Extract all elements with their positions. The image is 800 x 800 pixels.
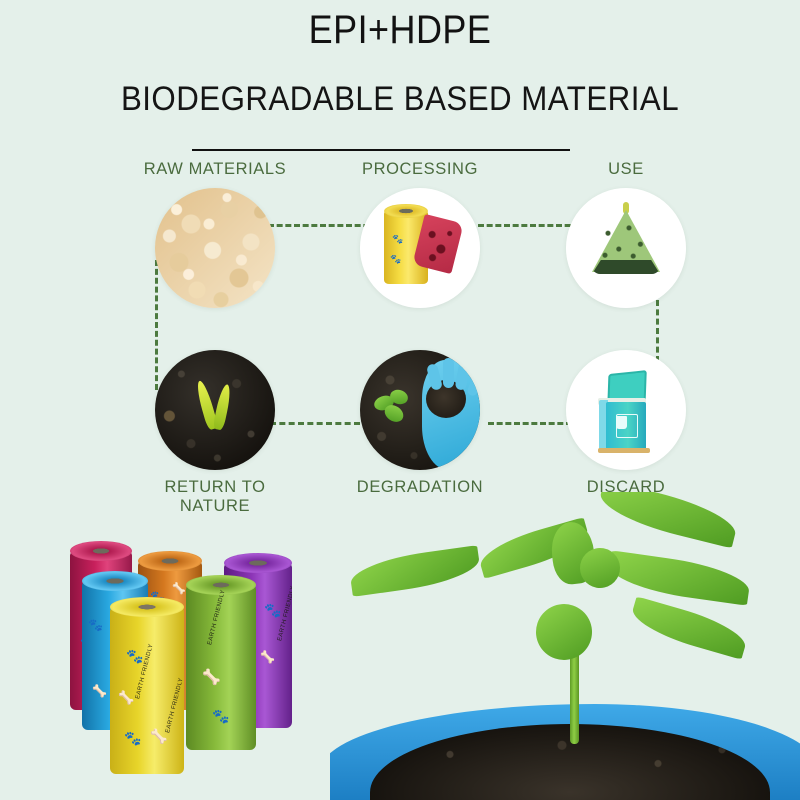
teal-trash-bin-icon (566, 350, 686, 470)
page-subtitle: BIODEGRADABLE BASED MATERIAL (32, 80, 768, 119)
infographic-page: EPI+HDPE BIODEGRADABLE BASED MATERIAL RA… (0, 0, 800, 800)
bag-roll-green: 🦴 🐾 EARTH FRIENDLY (186, 584, 256, 750)
page-title: EPI+HDPE (40, 8, 760, 53)
lifecycle-label-return-to-nature: RETURN TO NATURE (164, 478, 265, 516)
lifecycle-step-use[interactable]: USE (566, 160, 686, 310)
lifecycle-step-raw-materials[interactable]: RAW MATERIALS (155, 160, 275, 310)
lifecycle-step-return-to-nature[interactable]: RETURN TO NATURE (155, 350, 275, 500)
lifecycle-label-use: USE (608, 160, 644, 179)
lifecycle-step-discard[interactable]: DISCARD (566, 350, 686, 500)
connector-degradation-to-return (270, 422, 360, 425)
filled-green-bag-photo (566, 188, 686, 308)
title-divider (192, 149, 570, 151)
dog-waste-bag-rolls-photo: 🐾 EARTH FRIENDLY 🐾 🦴 🐾 🐾 🦴 EARTH FRIENDL… (42, 528, 342, 800)
seedling-in-blue-pot-photo (330, 492, 800, 800)
lifecycle-step-processing[interactable]: PROCESSING 🐾 🐾 (360, 160, 480, 310)
plant-leaf (348, 545, 481, 597)
soil-sprout-gloved-hand-photo (360, 350, 480, 470)
corn-starch-pellets-photo (155, 188, 275, 308)
plant-leaf (534, 602, 594, 662)
plant-leaf (606, 550, 752, 605)
plant-leaf (628, 596, 750, 659)
lifecycle-step-degradation[interactable]: DEGRADATION (360, 350, 480, 500)
lifecycle-label-processing: PROCESSING (362, 160, 478, 179)
lifecycle-label-raw-materials: RAW MATERIALS (144, 160, 287, 179)
bag-rolls-yellow-red-photo: 🐾 🐾 (360, 188, 480, 308)
seedling-in-soil-photo (155, 350, 275, 470)
bag-roll-yellow: 🐾 🦴 🐾 🦴 EARTH FRIENDLY EARTH FRIENDLY (110, 606, 184, 774)
connector-discard-to-degradation (488, 422, 572, 425)
lifecycle-diagram: RAW MATERIALS PROCESSING 🐾 🐾 USE (0, 160, 800, 500)
plant-leaf (596, 492, 741, 548)
